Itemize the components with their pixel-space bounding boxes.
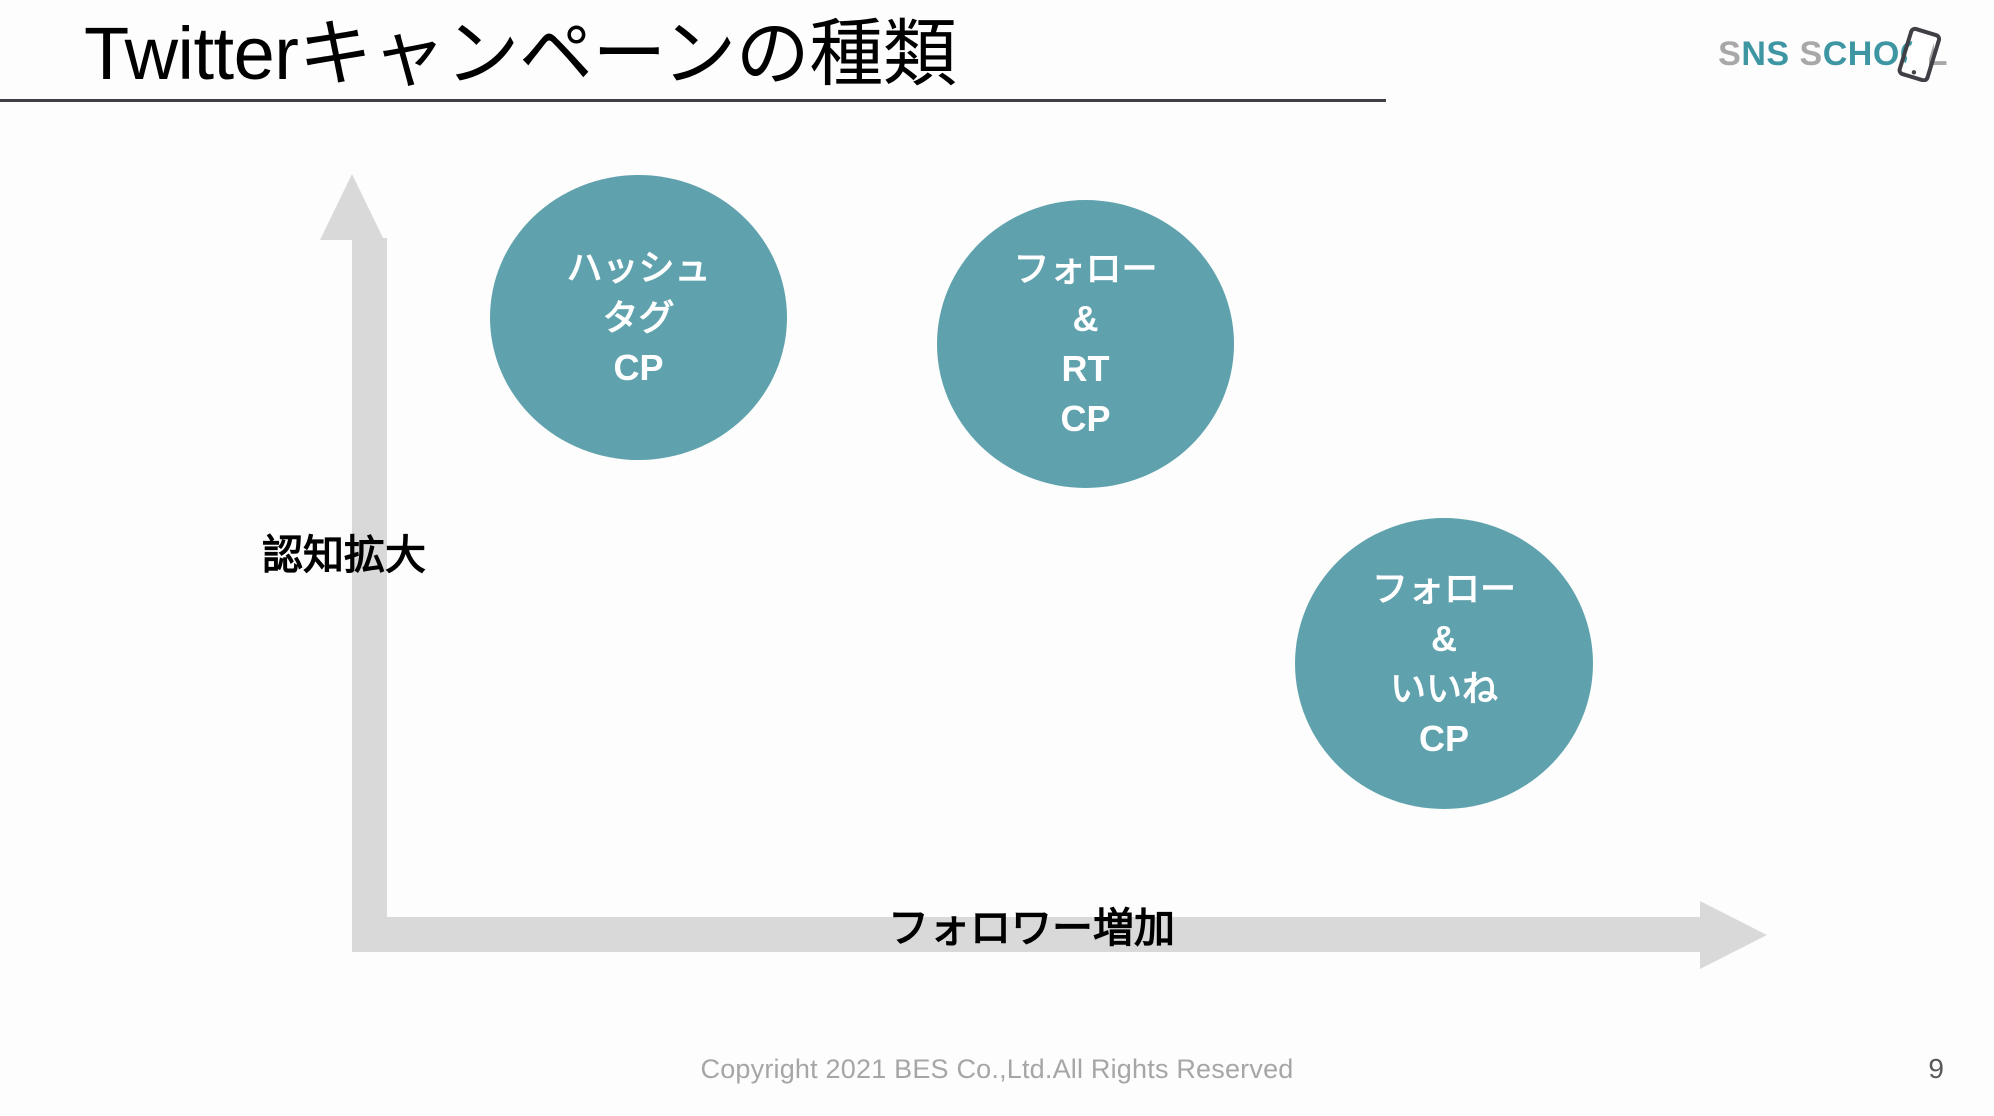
sns-school-logo: SNS SCHOOL	[1718, 28, 1948, 80]
x-axis-label: フォロワー増加	[888, 905, 1175, 951]
footer-copyright: Copyright 2021 BES Co.,Ltd.All Rights Re…	[0, 1054, 1994, 1085]
slide-canvas: Twitterキャンペーンの種類 SNS SCHOOL 認知拡大 フォロワー増加…	[0, 0, 1994, 1116]
bubble-label: フォロー & いいね CP	[1372, 564, 1516, 764]
logo-letter-s1: S	[1718, 35, 1741, 73]
y-axis-arrowhead-icon	[320, 174, 384, 240]
bubble-follow-like-cp[interactable]: フォロー & いいね CP	[1295, 518, 1593, 809]
bubble-label: ハッシュ タグ CP	[566, 243, 710, 393]
x-axis-arrowhead-icon	[1700, 901, 1767, 969]
bubble-hashtag-cp[interactable]: ハッシュ タグ CP	[490, 175, 787, 460]
page-number: 9	[1928, 1053, 1944, 1085]
smartphone-icon	[1892, 26, 1946, 82]
y-axis-label: 認知拡大	[262, 532, 426, 578]
logo-letters-ns: NS	[1741, 35, 1789, 73]
page-title: Twitterキャンペーンの種類	[84, 8, 956, 100]
bubble-label: フォロー & RT CP	[1013, 244, 1157, 444]
title-underline-rule	[0, 99, 1386, 102]
y-axis-shaft	[352, 238, 387, 952]
bubble-follow-rt-cp[interactable]: フォロー & RT CP	[937, 200, 1234, 488]
logo-letter-s2: S	[1790, 35, 1823, 73]
